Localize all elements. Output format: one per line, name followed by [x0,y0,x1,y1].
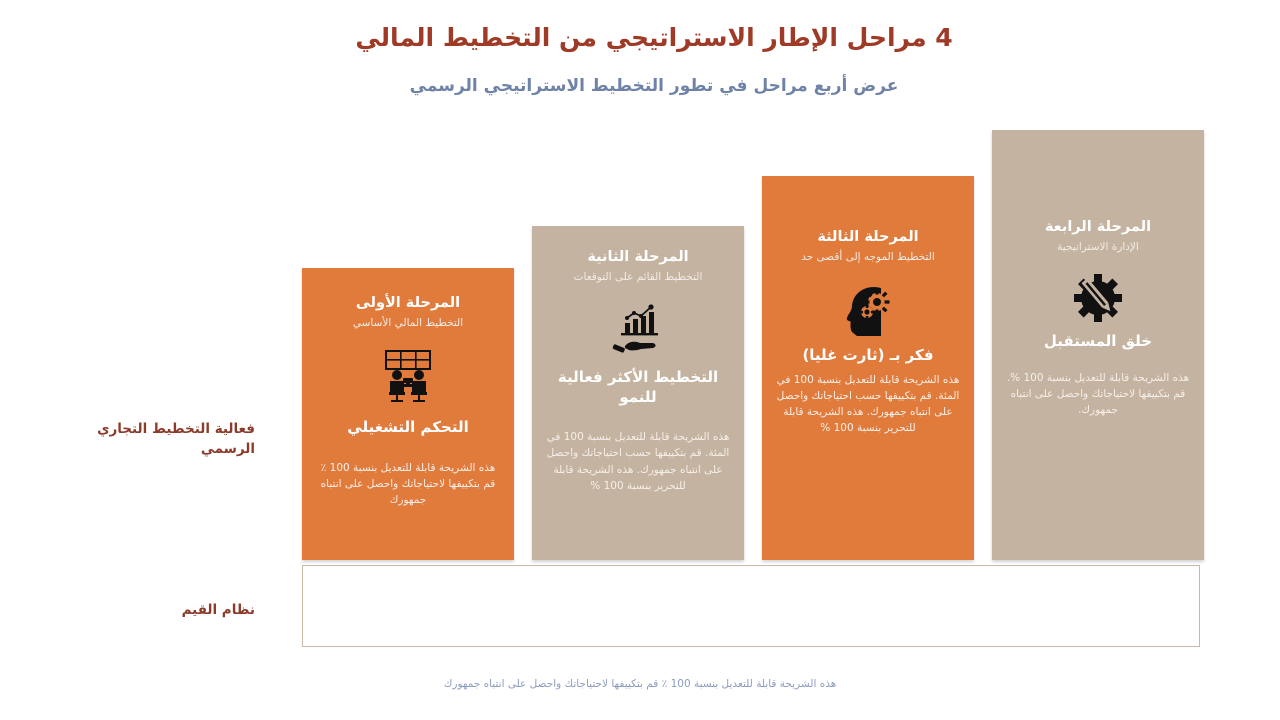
meeting-room-icon [377,348,439,404]
stage-4-body: هذه الشريحة قابلة للتعديل بنسبة 100 %. ق… [1006,370,1190,419]
page-title: 4 مراحل الإطار الاستراتيجي من التخطيط ال… [120,22,1188,53]
gear-pencil-icon [1067,270,1129,326]
stage-1-headline: التحكم التشغيلي [316,418,500,438]
stage-3-subtitle: التخطيط الموجه إلى أقصى حد [776,250,960,264]
stage-4-headline: خلق المستقبل [1006,332,1190,352]
stage-card-2[interactable]: المرحلة الثانية التخطيط القائم على التوق… [532,226,744,560]
stage-columns: المرحلة الأولى التخطيط المالي الأساسي [302,120,1202,560]
stage-card-4[interactable]: المرحلة الرابعة الإدارة الاستراتيجية [992,130,1204,560]
stage-1-subtitle: التخطيط المالي الأساسي [316,316,500,330]
row-label-effectiveness: فعالية التخطيط التجاري الرسمي [75,419,255,460]
stage-2-name: المرحلة الثانية [546,248,730,267]
stage-card-1[interactable]: المرحلة الأولى التخطيط المالي الأساسي [302,268,514,560]
stage-2-headline: التخطيط الأكثر فعالية للنمو [546,368,730,407]
stage-4-name: المرحلة الرابعة [1006,218,1190,237]
stage-3-name: المرحلة الثالثة [776,228,960,247]
row-label-values-system: نظام القيم [75,600,255,620]
stage-3-body: هذه الشريحة قابلة للتعديل بنسبة 100 في ا… [776,372,960,437]
stage-3-headline: فكر بـ (ثارت غليا) [776,346,960,366]
head-gears-icon [837,282,899,338]
stage-1-name: المرحلة الأولى [316,294,500,313]
stage-2-body: هذه الشريحة قابلة للتعديل بنسبة 100 في ا… [546,429,730,494]
stage-4-subtitle: الإدارة الاستراتيجية [1006,240,1190,254]
page-subtitle: عرض أربع مراحل في تطور التخطيط الاستراتي… [120,75,1188,97]
slide-header: 4 مراحل الإطار الاستراتيجي من التخطيط ال… [120,22,1188,97]
hand-growth-chart-icon [607,304,669,360]
slide-canvas: 4 مراحل الإطار الاستراتيجي من التخطيط ال… [0,0,1280,720]
stage-card-3[interactable]: المرحلة الثالثة التخطيط الموجه إلى أقصى … [762,176,974,560]
footer-note: هذه الشريحة قابلة للتعديل بنسبة 100 ٪ قم… [0,677,1280,692]
values-system-box[interactable] [302,565,1200,647]
stage-2-subtitle: التخطيط القائم على التوقعات [546,270,730,284]
stage-1-body: هذه الشريحة قابلة للتعديل بنسبة 100 ٪ قم… [316,460,500,509]
